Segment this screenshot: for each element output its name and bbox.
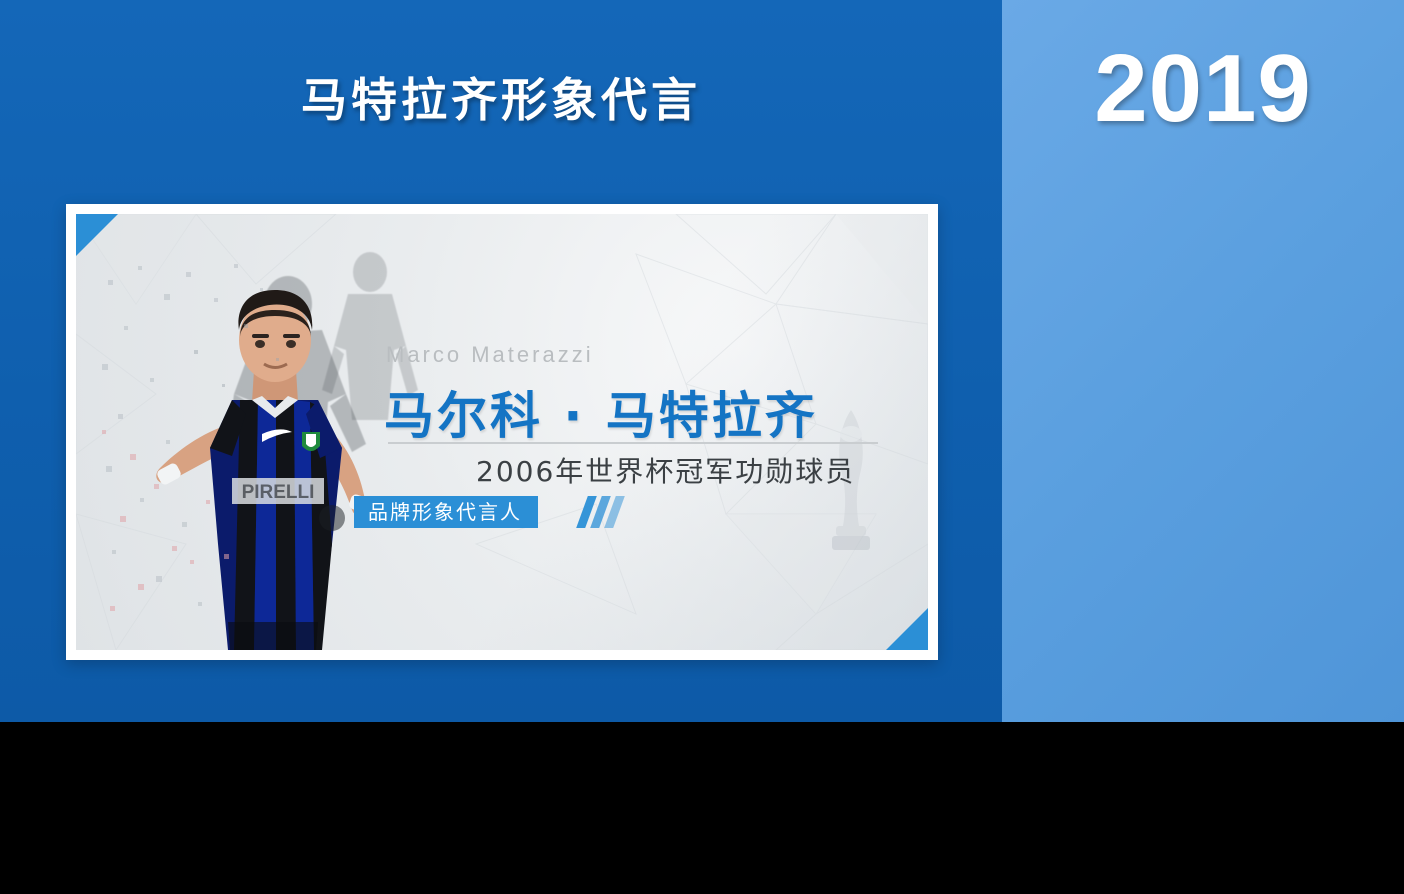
page-title: 马特拉齐形象代言 (0, 64, 1002, 130)
particle-dust-icon (94, 254, 374, 634)
corner-accent-bottom-right-icon (886, 608, 928, 650)
main-panel: 马特拉齐形象代言 (0, 0, 1002, 722)
status-badge: 品牌形象代言人 (354, 496, 538, 528)
chinese-name-label: 马尔科 · 马特拉齐 (384, 376, 818, 448)
divider (388, 442, 878, 444)
latin-name-label: Marco Materazzi (386, 342, 594, 368)
subtitle-label: 2006年世界杯冠军功勋球员 (476, 450, 855, 490)
corner-accent-top-left-icon (76, 214, 118, 256)
world-cup-trophy-icon (816, 404, 886, 584)
poster-card: PIRELLI (66, 204, 938, 660)
poster-image: PIRELLI (76, 214, 928, 650)
slide-root: 2019 马特拉齐形象代言 (0, 0, 1404, 894)
year-panel: 2019 (1002, 0, 1404, 722)
year-label: 2019 (1002, 34, 1404, 144)
